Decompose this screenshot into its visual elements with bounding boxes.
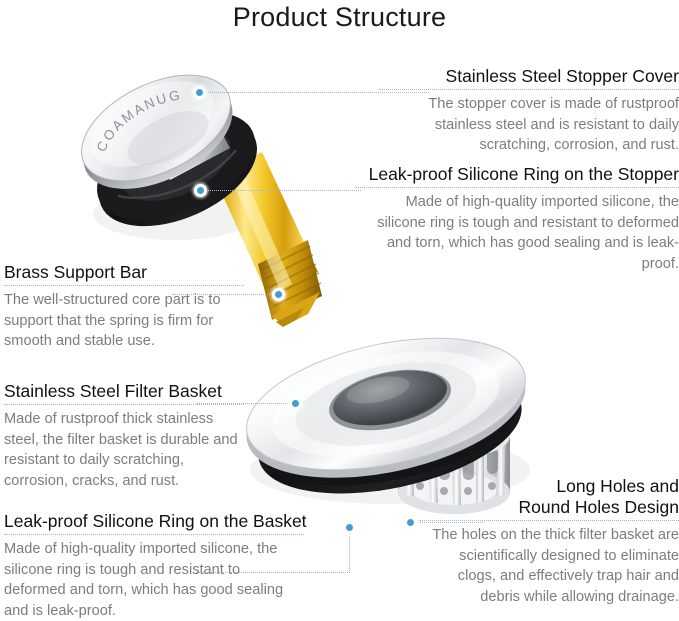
callout-dot-stopper-cover[interactable] bbox=[193, 86, 206, 99]
callout-heading-stopper-cover: Stainless Steel Stopper Cover bbox=[379, 66, 679, 87]
callout-heading-silicone-ring-basket: Leak-proof Silicone Ring on the Basket bbox=[4, 511, 304, 532]
callout-rule-filter-basket bbox=[4, 404, 244, 405]
callout-rule-brass-support-bar bbox=[4, 285, 244, 286]
callout-dot-brass-support-bar[interactable] bbox=[272, 288, 285, 301]
callout-rule-silicone-ring-basket bbox=[4, 534, 304, 535]
callout-rule-silicone-ring-stopper bbox=[355, 187, 679, 188]
infographic-canvas: Product Structure bbox=[0, 0, 679, 618]
callout-holes-design: Long Holes and Round Holes Design The ho… bbox=[419, 476, 679, 607]
callout-body-brass-support-bar: The well-structured core part is to supp… bbox=[4, 290, 244, 352]
callout-heading-holes-design: Long Holes and Round Holes Design bbox=[419, 476, 679, 518]
callout-body-silicone-ring-basket: Made of high-quality imported silicone, … bbox=[4, 539, 304, 621]
callout-filter-basket: Stainless Steel Filter Basket Made of ru… bbox=[4, 381, 244, 491]
callout-silicone-ring-stopper: Leak-proof Silicone Ring on the Stopper … bbox=[355, 164, 679, 274]
callout-brass-support-bar: Brass Support Bar The well-structured co… bbox=[4, 262, 244, 352]
callout-rule-stopper-cover bbox=[379, 89, 679, 90]
callout-dot-holes-design[interactable] bbox=[404, 516, 417, 529]
leader-line-silicone-ring-stopper bbox=[206, 190, 361, 191]
callout-stopper-cover: Stainless Steel Stopper Cover The stoppe… bbox=[379, 66, 679, 156]
callout-heading-brass-support-bar: Brass Support Bar bbox=[4, 262, 244, 283]
callout-body-filter-basket: Made of rustproof thick stainless steel,… bbox=[4, 409, 244, 491]
callout-body-stopper-cover: The stopper cover is made of rustproof s… bbox=[379, 94, 679, 156]
callout-dot-silicone-ring-stopper[interactable] bbox=[194, 184, 207, 197]
callout-dot-filter-basket[interactable] bbox=[289, 397, 302, 410]
callout-silicone-ring-basket: Leak-proof Silicone Ring on the Basket M… bbox=[4, 511, 304, 621]
callout-heading-silicone-ring-stopper: Leak-proof Silicone Ring on the Stopper bbox=[355, 164, 679, 185]
callout-heading-filter-basket: Stainless Steel Filter Basket bbox=[4, 381, 244, 402]
callout-dot-silicone-ring-basket[interactable] bbox=[343, 521, 356, 534]
callout-rule-holes-design bbox=[419, 520, 679, 521]
callout-body-silicone-ring-stopper: Made of high-quality imported silicone, … bbox=[355, 192, 679, 274]
callout-body-holes-design: The holes on the thick filter basket are… bbox=[419, 525, 679, 607]
